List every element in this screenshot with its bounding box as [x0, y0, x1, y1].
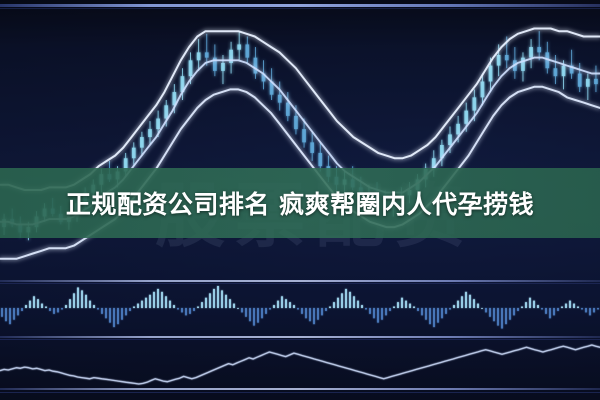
panel-divider-1: [0, 280, 600, 282]
panel-divider-3-thin: [0, 392, 600, 393]
top-accent-rule-thin: [0, 8, 600, 9]
title-banner: 正规配资公司排名 疯爽帮圈内人代孕捞钱: [0, 168, 600, 238]
panel-divider-2: [0, 336, 600, 338]
indicator-chart-svg: [0, 339, 600, 388]
top-accent-rule: [0, 4, 600, 7]
price-chart-svg: [0, 10, 600, 280]
headline-text: 正规配资公司排名 疯爽帮圈内人代孕捞钱: [66, 185, 534, 221]
indicator-line-panel: [0, 339, 600, 388]
panel-divider-3: [0, 388, 600, 390]
macd-histogram-panel: [0, 283, 600, 333]
price-panel: [0, 10, 600, 280]
chart-screenshot: 股票配资 正规配资公司排名 疯爽帮圈内人代孕捞钱: [0, 0, 600, 400]
macd-chart-svg: [0, 283, 600, 333]
